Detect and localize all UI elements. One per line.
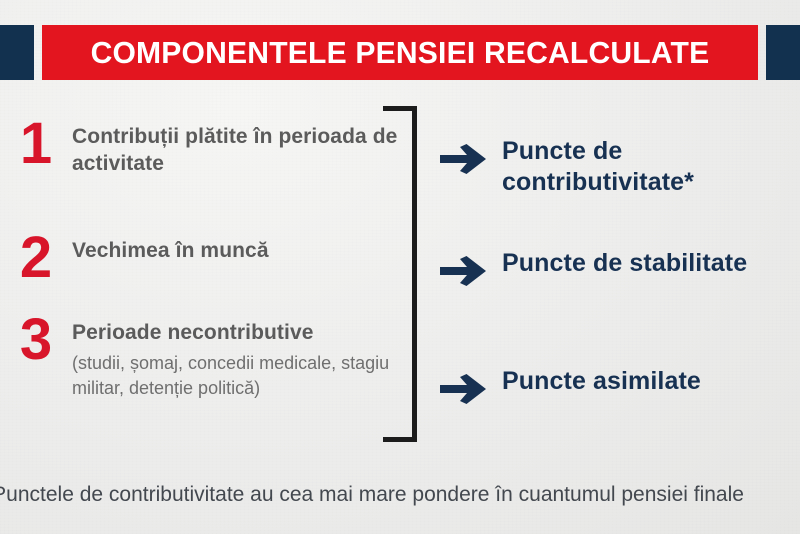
list-item-title: Vechimea în muncă [72,238,400,265]
footnote-bar: *Punctele de contributivitate au cea mai… [0,474,800,514]
components-list: 1 Contribuții plătite în perioada de act… [0,108,400,443]
list-item-title: Contribuții plătite în perioada de activ… [72,124,400,178]
outcome-label: Puncte asimilate [502,366,800,397]
right-arrow-icon [440,248,502,286]
header-left-cap [0,25,34,80]
list-item-number: 3 [0,312,72,367]
outcome-label: Puncte de stabilitate [502,248,800,279]
outcomes-list: Puncte de contributivitate* Puncte de st… [440,108,800,443]
list-item-body: Contribuții plătite în perioada de activ… [72,122,400,178]
list-item-body: Perioade necontributive (studii, șomaj, … [72,318,400,402]
bracket-bottom-arm [383,437,417,442]
list-item: 1 Contribuții plătite în perioada de act… [0,122,400,178]
list-item-number: 1 [0,116,72,171]
page-title: COMPONENTELE PENSIEI RECALCULATE [91,37,710,68]
header-band: COMPONENTELE PENSIEI RECALCULATE [0,25,800,80]
list-item-subtitle: (studii, șomaj, concedii medicale, stagi… [72,351,400,402]
header-bar: COMPONENTELE PENSIEI RECALCULATE [42,25,758,80]
grouping-bracket [383,106,417,442]
list-item-number: 2 [0,230,72,285]
outcome-label: Puncte de contributivitate* [502,136,800,197]
outcome-item: Puncte asimilate [440,366,800,404]
right-arrow-icon [440,136,502,174]
list-item-title: Perioade necontributive [72,320,400,347]
outcome-item: Puncte de stabilitate [440,248,800,286]
infographic-slide: COMPONENTELE PENSIEI RECALCULATE 1 Contr… [0,0,800,534]
bracket-spine [412,106,417,442]
right-arrow-icon [440,366,502,404]
list-item-body: Vechimea în muncă [72,236,400,265]
list-item: 2 Vechimea în muncă [0,236,400,285]
outcome-item: Puncte de contributivitate* [440,136,800,197]
list-item: 3 Perioade necontributive (studii, șomaj… [0,318,400,402]
footnote-text: *Punctele de contributivitate au cea mai… [0,484,744,505]
header-right-cap [766,25,800,80]
